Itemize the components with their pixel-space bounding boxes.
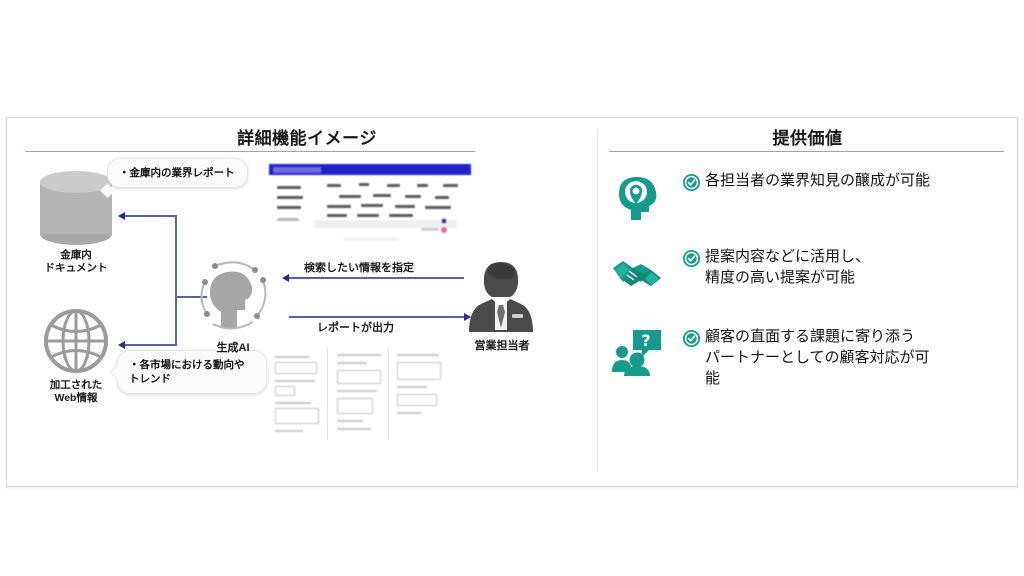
people-question-icon: ? (611, 328, 663, 378)
callout-market-trend-text: ・各市場における動向や トレンド (129, 359, 245, 385)
value-item-text: 各担当者の業界知見の醸成が可能 (705, 170, 1011, 191)
right-title-rule (609, 151, 1004, 152)
report-document-icon (269, 164, 471, 262)
connector-top-arrow (118, 212, 125, 220)
ai-head-icon (193, 258, 273, 340)
connector-vertical (175, 215, 177, 345)
callout-vault-report: ・金庫内の業界レポート (107, 158, 248, 188)
flow-request-arrow (282, 274, 289, 282)
sales-rep-label: 営業担当者 (447, 340, 557, 353)
check-circle-icon (683, 174, 700, 191)
connector-top-h (125, 215, 177, 217)
callout-market-trend: ・各市場における動向や トレンド (117, 350, 267, 394)
check-circle-icon (683, 250, 700, 267)
connector-bottom-h (125, 344, 177, 346)
check-circle-icon (683, 330, 700, 347)
right-panel-title: 提供価値 (597, 124, 1018, 149)
connector-bottom-arrow (118, 341, 125, 349)
left-panel-title: 詳細機能イメージ (7, 124, 597, 149)
flow-output-label: レポートが出力 (317, 319, 394, 335)
svg-text:?: ? (641, 331, 650, 350)
callout-vault-report-text: ・金庫内の業界レポート (119, 167, 235, 179)
slide-canvas: 詳細機能イメージ 金庫内 ドキュメント 加工された Web情報 ・金庫内の業界レ… (6, 117, 1018, 487)
flow-request-line (289, 277, 464, 279)
database-cylinder-icon (40, 171, 112, 243)
flow-output-arrow (464, 313, 471, 321)
vault-docs-label: 金庫内 ドキュメント (21, 249, 131, 275)
document-thumbnails-icon (269, 346, 449, 444)
value-item-text: 顧客の直面する課題に寄り添う パートナーとしての顧客対応が可 能 (705, 326, 1011, 389)
generative-ai-label: 生成AI (188, 342, 278, 355)
left-panel: 詳細機能イメージ 金庫内 ドキュメント 加工された Web情報 ・金庫内の業界レ… (7, 118, 597, 486)
head-insight-icon (611, 172, 663, 222)
web-info-label: 加工された Web情報 (21, 379, 131, 405)
value-item-text: 提案内容などに活用し、 精度の高い提案が可能 (705, 246, 1011, 288)
right-panel: 提供価値 各担当者の業界知見の醸成が可能 (597, 118, 1018, 486)
globe-icon (43, 308, 109, 374)
handshake-icon (611, 248, 663, 298)
business-person-icon (465, 258, 537, 336)
callout-tail (110, 365, 126, 381)
left-title-rule (25, 151, 475, 152)
flow-output-line (289, 316, 464, 318)
